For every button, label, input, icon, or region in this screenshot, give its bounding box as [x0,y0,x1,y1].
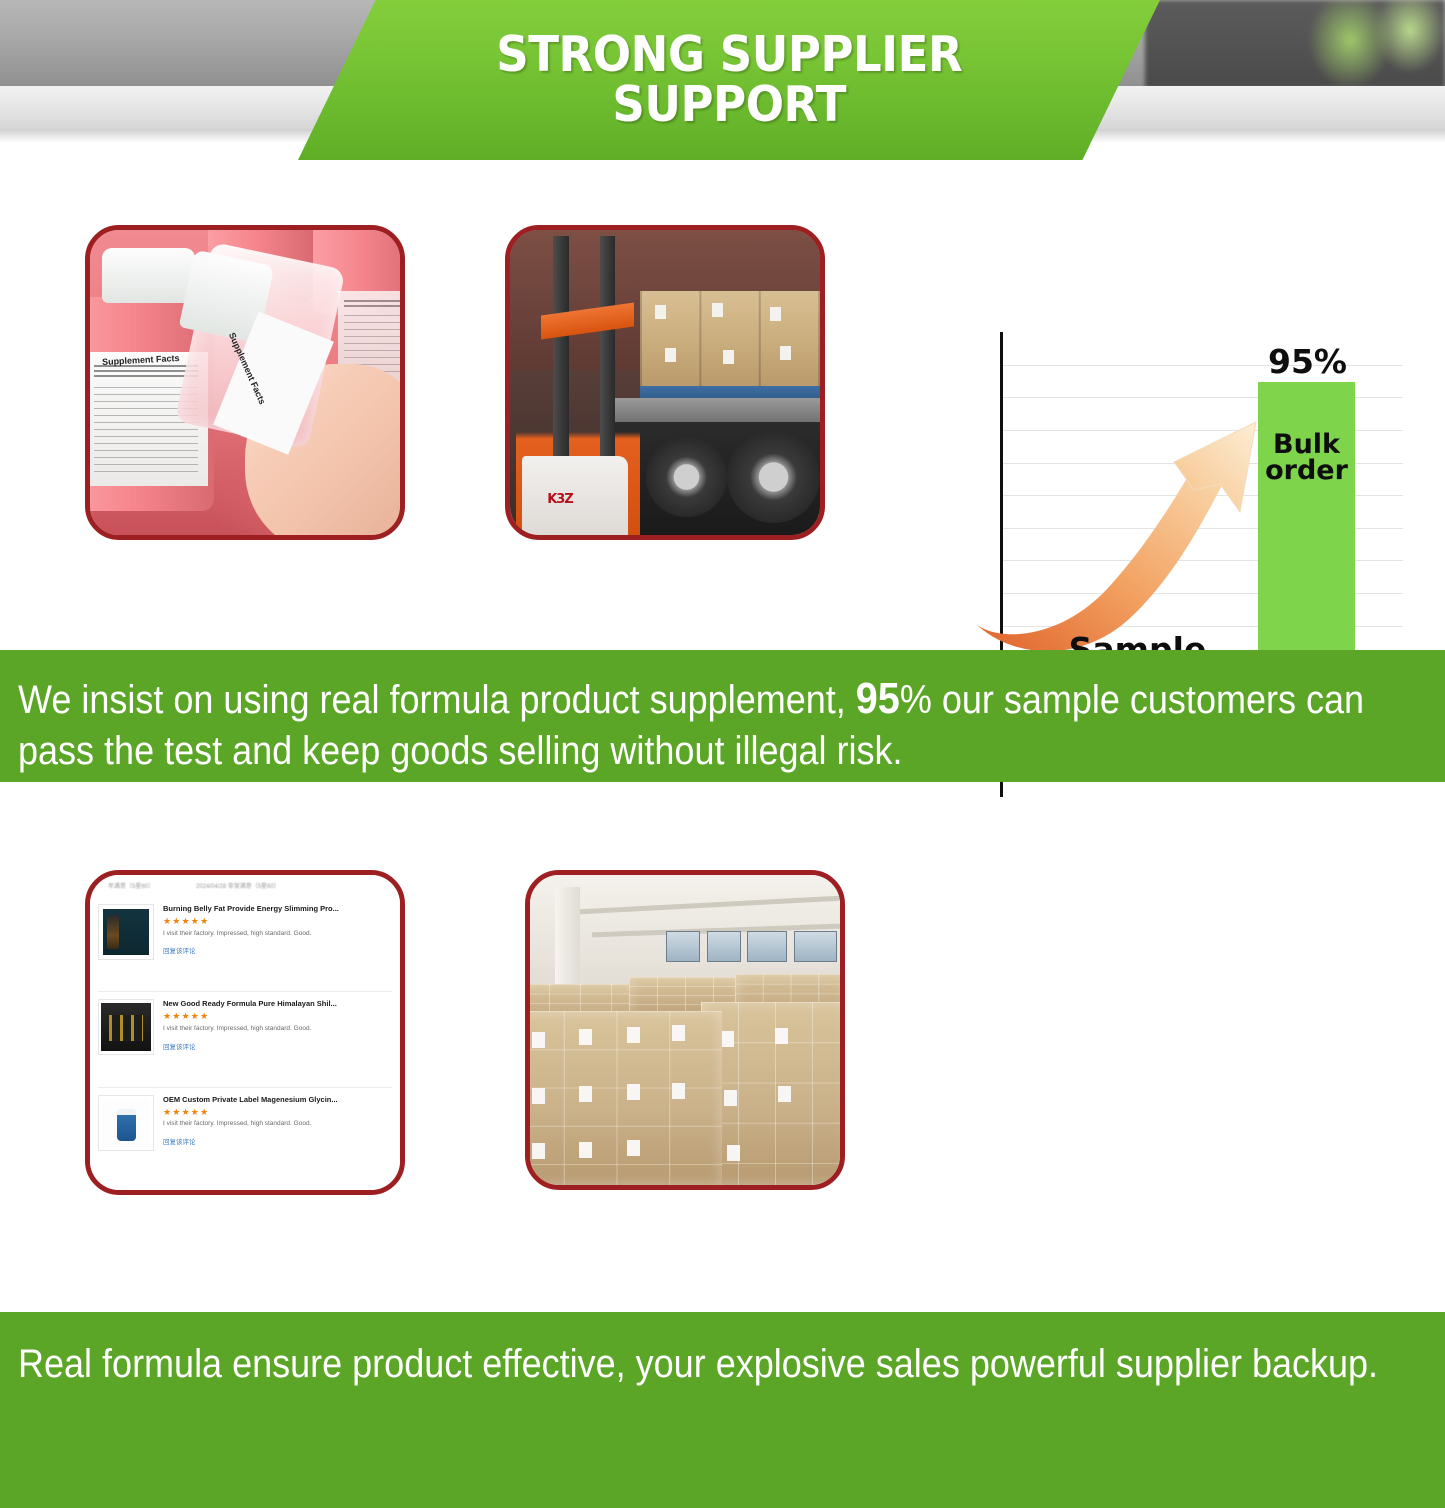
sample-to-bulk-row: Supplement Facts Supplement Facts [0,160,1445,645]
forklift-truck-scene: K3Z [510,230,820,535]
list-item[interactable]: New Good Ready Formula Pure Himalayan Sh… [98,992,392,1087]
reply-link[interactable]: 回复该评论 [163,1041,386,1051]
feedback-topbar-text-1: 年满意（5星60） [108,881,154,890]
review-title: Burning Belly Fat Provide Energy Slimmin… [163,904,386,914]
header-title-container: STRONG SUPPLIER SUPPORT [298,0,1160,160]
star-rating-icon: ★★★★★ [163,1106,386,1120]
feedback-review-list: Burning Belly Fat Provide Energy Slimmin… [98,897,392,1184]
page-title: STRONG SUPPLIER SUPPORT [496,30,962,130]
middle-banner-text: We insist on using real formula product … [0,650,1444,776]
star-rating-icon: ★★★★★ [163,915,386,929]
bottom-banner-text: Real formula ensure product effective, y… [0,1312,1444,1390]
review-thumbnail [98,904,154,960]
list-item[interactable]: Burning Belly Fat Provide Energy Slimmin… [98,897,392,992]
header-background-foliage [1145,0,1445,88]
middle-green-banner: We insist on using real formula product … [0,650,1445,782]
review-text: I visit their factory. Impressed, high s… [163,929,386,939]
feedback-topbar-text-2: 2024/04/28 非常满意（5星60） [196,881,280,890]
forklift-loading-truck-photo: K3Z [505,225,825,540]
feedback-list-panel: 年满意（5星60） 2024/04/28 非常满意（5星60） Burning … [90,875,400,1190]
page-title-line2: SUPPORT [496,80,962,130]
reply-link[interactable]: 回复该评论 [163,945,386,955]
chart1-bar-label: Bulk order [1258,432,1355,484]
page-title-line1: STRONG SUPPLIER [496,30,962,80]
hand-holding-supplement-bottle-photo: Supplement Facts Supplement Facts [85,225,405,540]
pink-gummy-bottles-scene: Supplement Facts Supplement Facts [90,230,400,535]
middle-banner-highlight: 95 [856,674,900,723]
list-item[interactable]: OEM Custom Private Label Magenesium Glyc… [98,1088,392,1183]
review-text: I visit their factory. Impressed, high s… [163,1119,386,1129]
warehouse-pallets-photo [525,870,845,1190]
review-title: OEM Custom Private Label Magenesium Glyc… [163,1095,386,1105]
review-text: I visit their factory. Impressed, high s… [163,1024,386,1034]
middle-banner-prefix: We insist on using real formula product … [18,678,856,722]
star-rating-icon: ★★★★★ [163,1010,386,1024]
supplier-support-infographic: STRONG SUPPLIER SUPPORT Supplement Facts… [0,0,1445,1508]
page-header: STRONG SUPPLIER SUPPORT [0,0,1445,160]
review-thumbnail [98,1095,154,1151]
bottom-green-banner: Real formula ensure product effective, y… [0,1312,1445,1508]
reply-link[interactable]: 回复该评论 [163,1136,386,1146]
feedback-to-repeat-row: 年满意（5星60） 2024/04/28 非常满意（5星60） Burning … [0,815,1445,1300]
review-thumbnail [98,999,154,1055]
review-title: New Good Ready Formula Pure Himalayan Sh… [163,999,386,1009]
buyer-feedback-screenshot: 年满意（5星60） 2024/04/28 非常满意（5星60） Burning … [85,870,405,1195]
feedback-topbar: 年满意（5星60） 2024/04/28 非常满意（5星60） [90,875,400,895]
chart1-percent-label: 95% [1268,342,1347,381]
warehouse-scene [530,875,840,1185]
